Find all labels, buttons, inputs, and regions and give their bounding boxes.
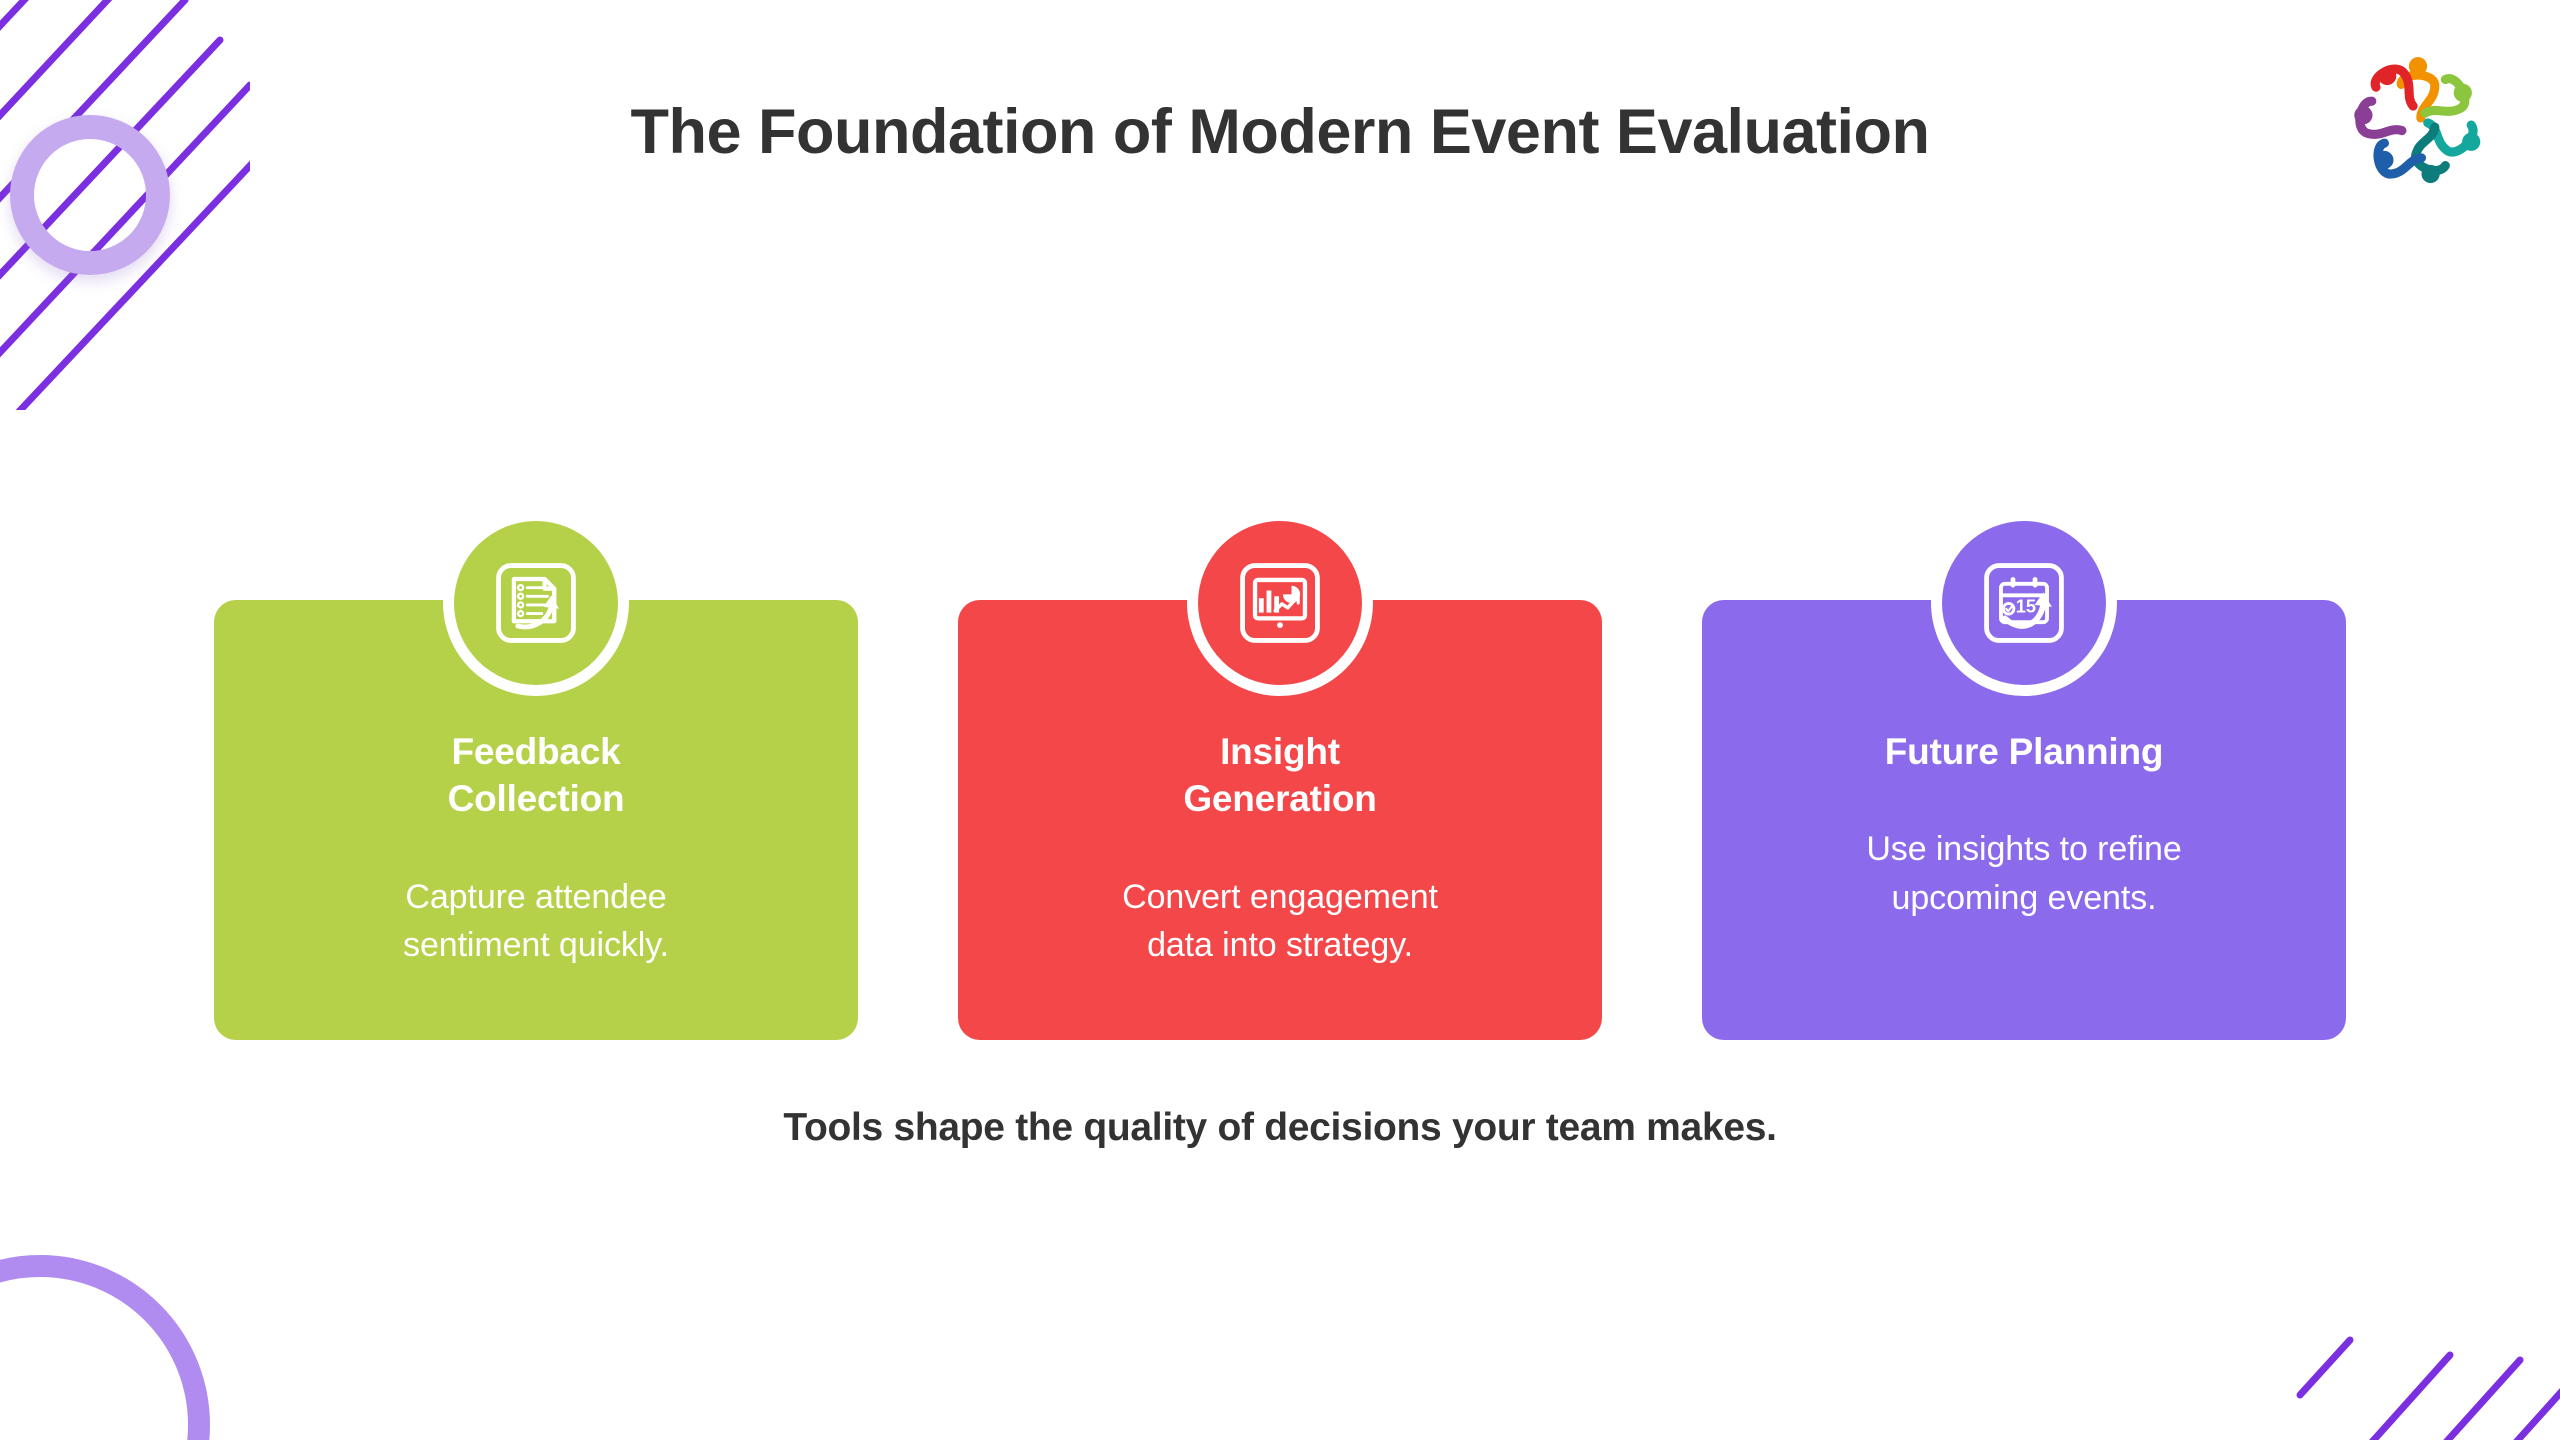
card-description: Convert engagement data into strategy. xyxy=(1002,873,1558,970)
analytics-dashboard-icon xyxy=(1232,555,1328,651)
card-future-planning[interactable]: 15 Future Planning Use insights to refin… xyxy=(1702,600,2346,1040)
icon-badge-future-planning: 15 xyxy=(1931,510,2117,696)
card-title: Insight Generation xyxy=(1002,728,1558,823)
slide-header: The Foundation of Modern Event Evaluatio… xyxy=(0,0,2560,260)
page-title: The Foundation of Modern Event Evaluatio… xyxy=(0,96,2560,168)
card-title: Feedback Collection xyxy=(258,728,814,823)
card-insight-generation[interactable]: Insight Generation Convert engagement da… xyxy=(958,600,1602,1040)
diagonal-stripes-decoration-bottom-right xyxy=(2290,1210,2560,1440)
slide-canvas: The Foundation of Modern Event Evaluatio… xyxy=(0,0,2560,1440)
feature-cards-row: Feedback Collection Capture attendee sen… xyxy=(0,600,2560,1040)
card-title: Future Planning xyxy=(1746,728,2302,775)
icon-badge-feedback-collection xyxy=(443,510,629,696)
card-description: Capture attendee sentiment quickly. xyxy=(258,873,814,970)
ring-decoration-bottom-left xyxy=(0,1255,210,1440)
card-description: Use insights to refine upcoming events. xyxy=(1746,825,2302,922)
footer-tagline: Tools shape the quality of decisions you… xyxy=(0,1106,2560,1150)
checklist-document-arrow-icon xyxy=(488,555,584,651)
people-circle-logo xyxy=(2348,48,2488,188)
calendar-day-number: 15 xyxy=(2016,596,2036,617)
calendar-arrow-icon: 15 xyxy=(1976,555,2072,651)
icon-badge-insight-generation xyxy=(1187,510,1373,696)
card-feedback-collection[interactable]: Feedback Collection Capture attendee sen… xyxy=(214,600,858,1040)
